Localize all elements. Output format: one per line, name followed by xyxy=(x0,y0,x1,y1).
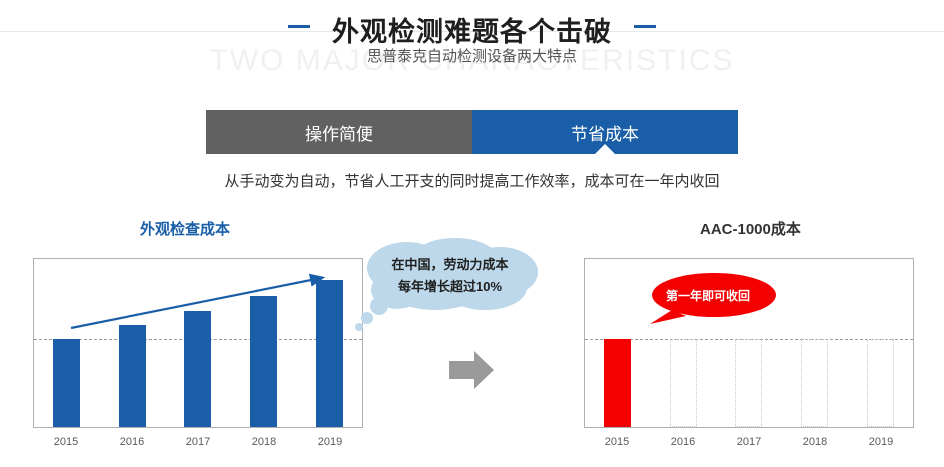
bar-placeholder-2016 xyxy=(670,339,697,427)
left-chart-x-axis-labels: 20152016201720182019 xyxy=(33,436,363,448)
left-chart-trend-arrow-icon xyxy=(33,255,363,335)
x-tick-2019: 2019 xyxy=(305,436,355,448)
x-tick-2016: 2016 xyxy=(107,436,157,448)
right-chart-x-axis-labels: 20152016201720182019 xyxy=(584,436,914,448)
x-tick-2015: 2015 xyxy=(592,436,642,448)
bar-2015 xyxy=(53,339,80,427)
bar-2015 xyxy=(604,339,631,427)
x-tick-2019: 2019 xyxy=(856,436,906,448)
feature-tab-bar: 操作简便 节省成本 xyxy=(206,110,738,154)
cloud-callout-text: 在中国，劳动力成本 每年增长超过10% xyxy=(345,254,555,298)
x-tick-2015: 2015 xyxy=(41,436,91,448)
left-chart-title: 外观检查成本 xyxy=(140,218,230,239)
tab-easy-operation-label: 操作简便 xyxy=(305,120,373,145)
bar-placeholder-2018 xyxy=(801,339,828,427)
speech-bubble-text: 第一年即可收回 xyxy=(638,287,778,304)
page-header: TWO MAJOR CHARACTERISTICS 外观检测难题各个击破 思普泰… xyxy=(0,0,944,92)
title-dash-left-icon xyxy=(288,25,310,28)
x-tick-2018: 2018 xyxy=(790,436,840,448)
bar-2016 xyxy=(119,325,146,427)
lead-description: 从手动变为自动，节省人工开支的同时提高工作效率，成本可在一年内收回 xyxy=(0,170,944,191)
tab-easy-operation[interactable]: 操作简便 xyxy=(206,110,472,154)
cloud-callout-line-2: 每年增长超过10% xyxy=(345,276,555,298)
tab-cost-saving-label: 节省成本 xyxy=(571,120,639,145)
x-tick-2017: 2017 xyxy=(173,436,223,448)
page-title: 外观检测难题各个击破 xyxy=(332,10,612,49)
cloud-callout-line-1: 在中国，劳动力成本 xyxy=(345,254,555,276)
x-tick-2017: 2017 xyxy=(724,436,774,448)
x-tick-2016: 2016 xyxy=(658,436,708,448)
right-chart-title: AAC-1000成本 xyxy=(700,218,801,239)
bar-placeholder-2017 xyxy=(735,339,762,427)
page-title-row: 外观检测难题各个击破 xyxy=(0,10,944,49)
page-subtitle: 思普泰克自动检测设备两大特点 xyxy=(0,45,944,66)
x-tick-2018: 2018 xyxy=(239,436,289,448)
right-arrow-icon xyxy=(447,348,497,392)
tab-active-notch-icon xyxy=(594,144,616,155)
speech-bubble-callout: 第一年即可收回 xyxy=(638,272,778,324)
title-dash-right-icon xyxy=(634,25,656,28)
bar-placeholder-2019 xyxy=(867,339,894,427)
tab-cost-saving[interactable]: 节省成本 xyxy=(472,110,738,154)
cloud-callout: 在中国，劳动力成本 每年增长超过10% xyxy=(345,238,555,333)
